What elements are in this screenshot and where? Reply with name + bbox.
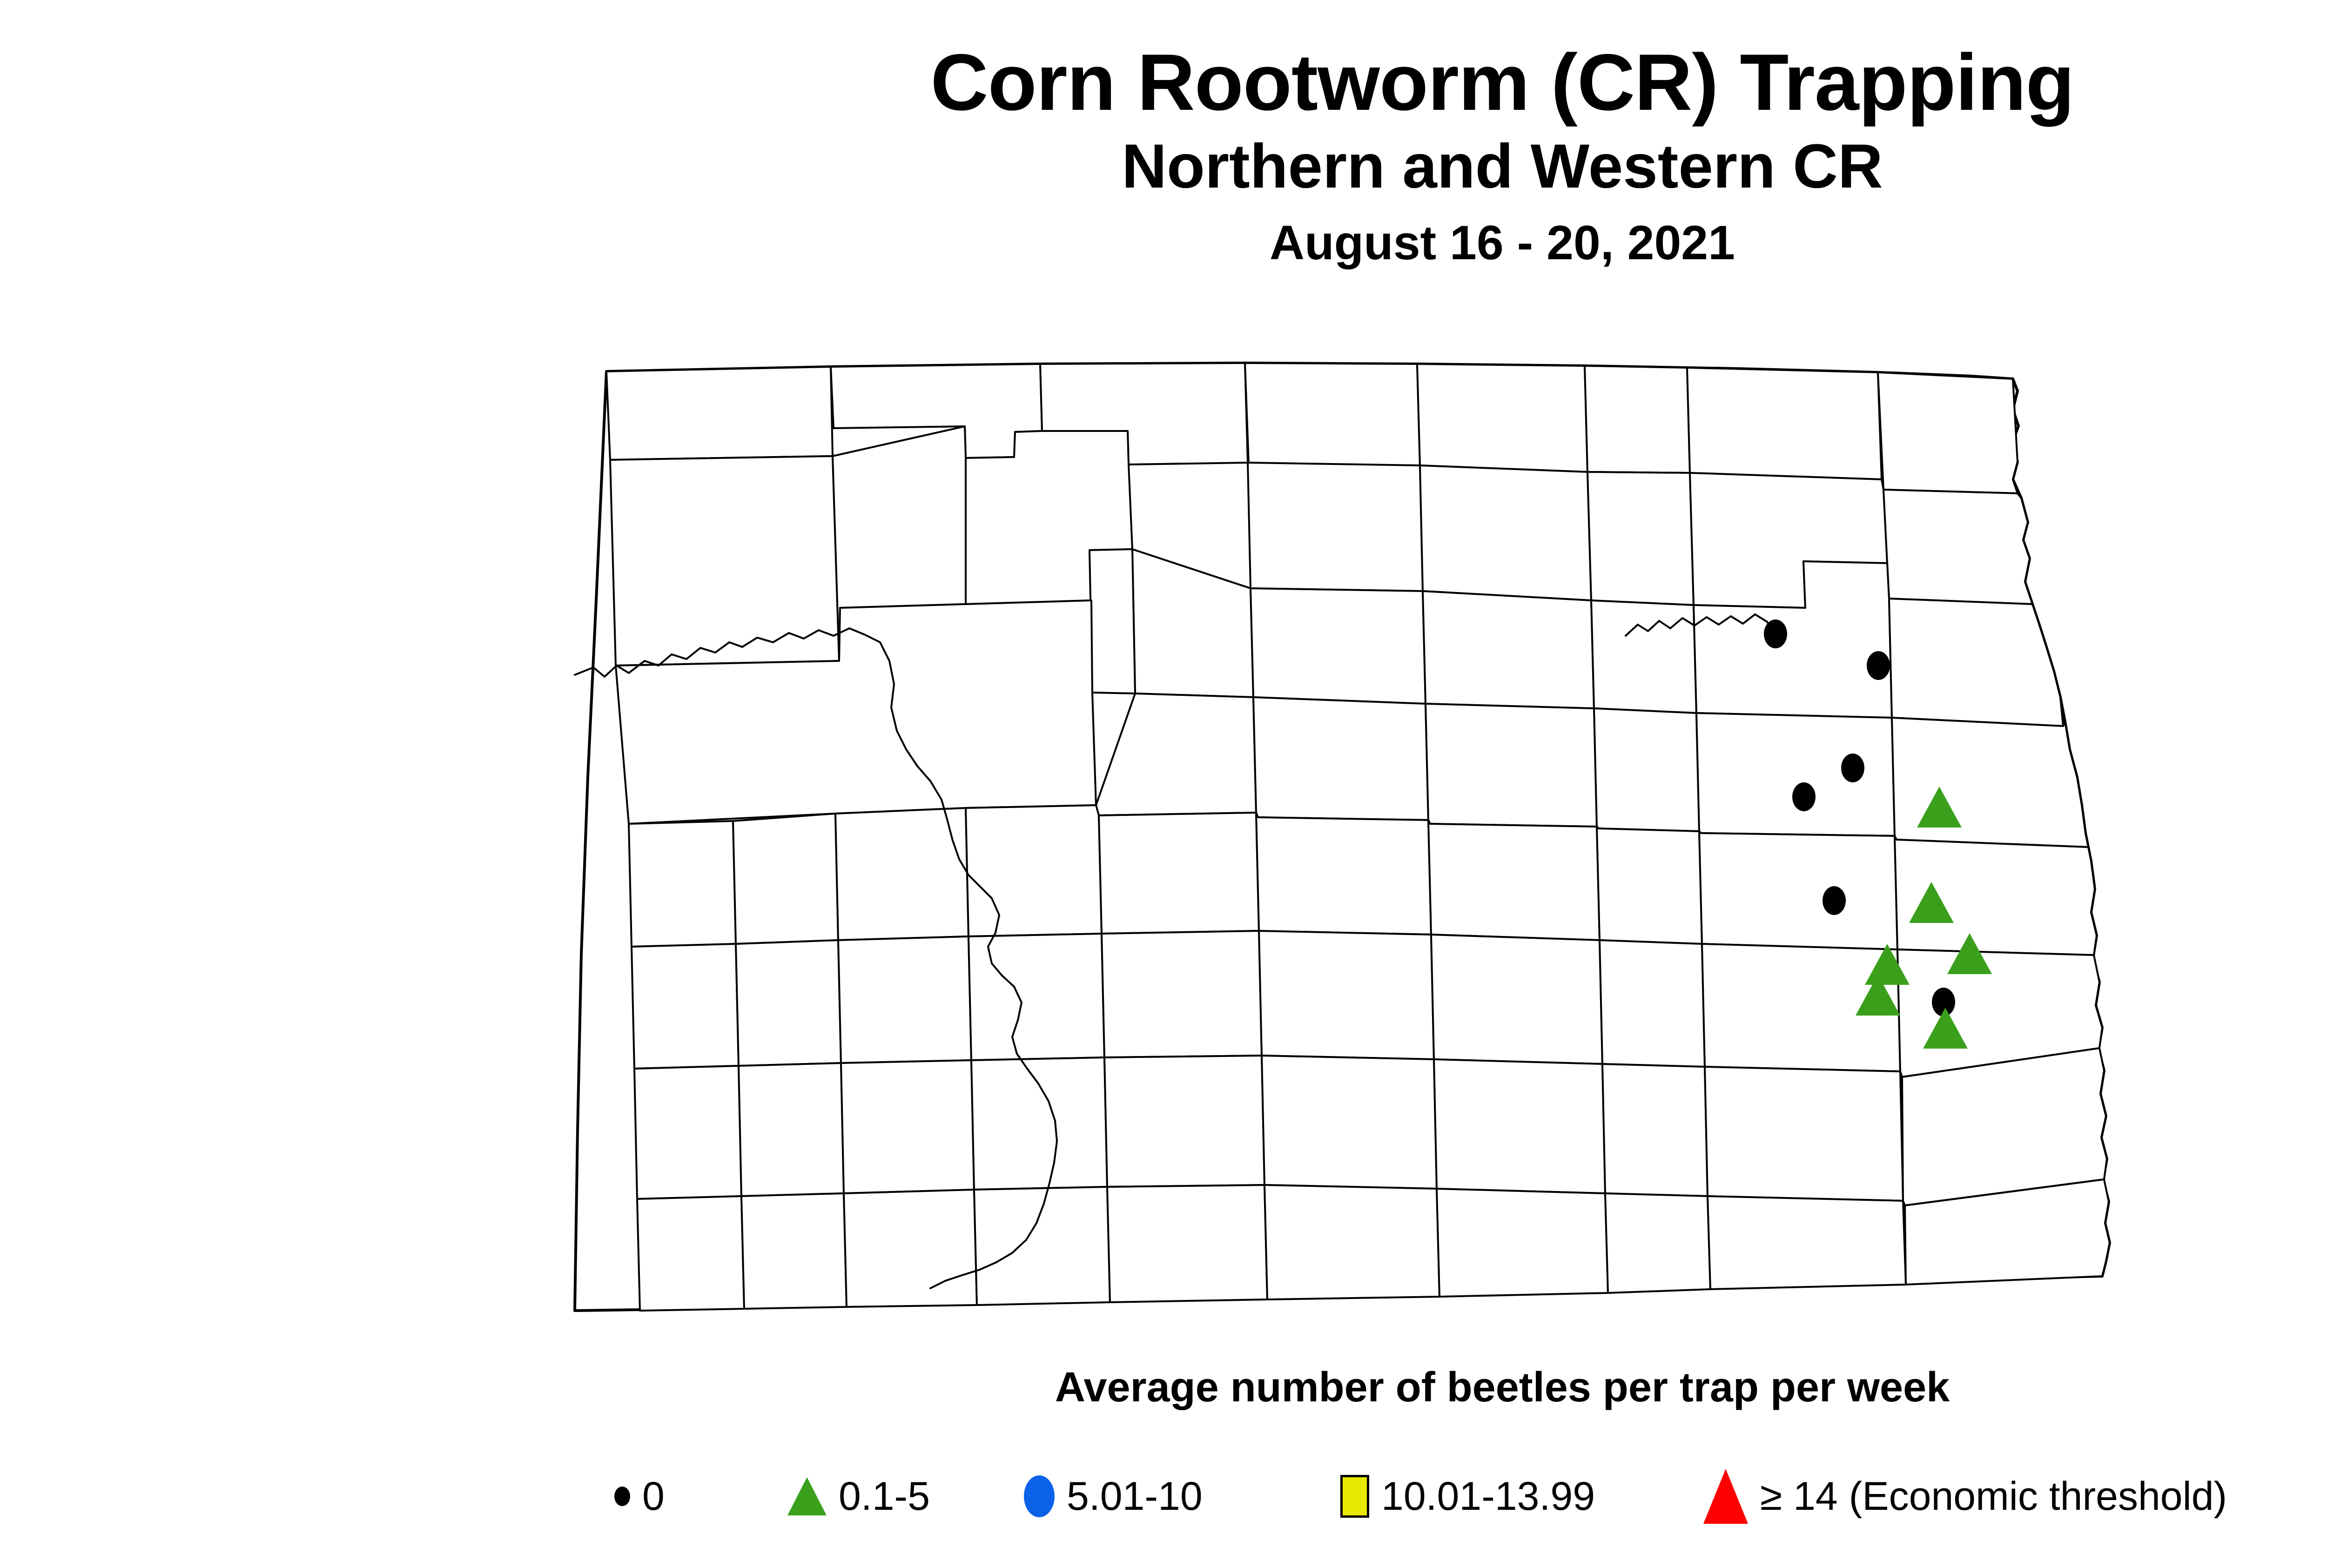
county (610, 456, 839, 666)
map-svg (547, 340, 2204, 1336)
triangle-green-icon (787, 1477, 827, 1515)
county (1262, 1056, 1437, 1189)
county (1417, 364, 1587, 472)
county (1102, 931, 1262, 1057)
county (1602, 1064, 1708, 1196)
county (1107, 1185, 1267, 1302)
circle-blue-icon (1024, 1475, 1055, 1517)
county (1892, 718, 2088, 847)
dot-icon (614, 1487, 630, 1506)
county (1878, 372, 2018, 493)
county (637, 1196, 744, 1311)
county (1883, 490, 2032, 604)
county (1431, 935, 1602, 1064)
page-subtitle: Northern and Western CR (0, 130, 2327, 203)
county (1420, 465, 1591, 600)
legend-label: 10.01-13.99 (1381, 1476, 1595, 1516)
legend: 0 0.1-5 5.01-10 10.01-13.99 ≥ 14 (Econom… (614, 1454, 2327, 1538)
county (1705, 1067, 1903, 1201)
county (606, 367, 833, 460)
marker-zero (1841, 754, 1864, 782)
county (1428, 820, 1600, 940)
legend-item-high: 10.01-13.99 (1340, 1454, 1595, 1538)
county (1256, 813, 1431, 935)
county (1687, 368, 1882, 479)
county (1600, 940, 1705, 1067)
square-yellow-icon (1340, 1475, 1369, 1518)
county (1605, 1193, 1710, 1293)
county (741, 1193, 847, 1309)
county (1253, 697, 1428, 820)
county (844, 1190, 977, 1307)
county (1434, 1059, 1605, 1193)
county (974, 1187, 1110, 1305)
county (1902, 1048, 2107, 1205)
county (841, 1060, 974, 1193)
marker-zero (1867, 651, 1890, 680)
county (966, 805, 1102, 936)
page-title: Corn Rootworm (CR) Trapping (0, 42, 2327, 123)
county (1259, 931, 1434, 1059)
map-counties (575, 363, 2110, 1311)
county (1889, 599, 2063, 726)
county (1699, 831, 1897, 949)
date-range-label: August 16 - 20, 2021 (0, 214, 2327, 272)
county (1585, 366, 1690, 473)
legend-item-medium: 5.01-10 (1024, 1454, 1203, 1538)
county (1264, 1185, 1439, 1299)
county (1099, 813, 1259, 934)
marker-zero (1823, 886, 1846, 915)
triangle-red-icon (1703, 1469, 1748, 1524)
legend-item-low: 0.1-5 (787, 1454, 930, 1538)
north-dakota-county-map (547, 340, 2204, 1336)
county (739, 1063, 844, 1196)
legend-caption: Average number of beetles per trap per w… (0, 1364, 2327, 1412)
county (736, 940, 841, 1066)
legend-item-threshold: ≥ 14 (Economic threshold) (1703, 1454, 2227, 1538)
marker-zero (1792, 782, 1816, 811)
county (1437, 1189, 1608, 1297)
county (1587, 472, 1694, 605)
county (1104, 1056, 1264, 1187)
county (733, 814, 838, 944)
county (1251, 588, 1426, 704)
marker-zero (1764, 619, 1787, 648)
county (1090, 549, 1135, 693)
legend-item-zero: 0 (614, 1454, 665, 1538)
county (1708, 1196, 1906, 1289)
county (1591, 600, 1696, 713)
legend-label: 5.01-10 (1067, 1476, 1203, 1516)
county (634, 1066, 741, 1199)
county (629, 821, 736, 947)
county (1696, 713, 1895, 836)
county (1423, 591, 1594, 708)
title-block: Corn Rootworm (CR) Trapping Northern and… (0, 42, 2327, 272)
county (838, 936, 971, 1063)
county (971, 1057, 1107, 1190)
county (1597, 827, 1702, 944)
legend-label: 0 (642, 1476, 665, 1516)
legend-label: ≥ 14 (Economic threshold) (1760, 1476, 2227, 1516)
county (1245, 363, 1420, 465)
county (1594, 708, 1699, 831)
county (1426, 704, 1597, 827)
legend-label: 0.1-5 (839, 1476, 930, 1516)
county (632, 944, 739, 1069)
county (1248, 463, 1423, 591)
poster-canvas: Corn Rootworm (CR) Trapping Northern and… (0, 0, 2327, 1568)
